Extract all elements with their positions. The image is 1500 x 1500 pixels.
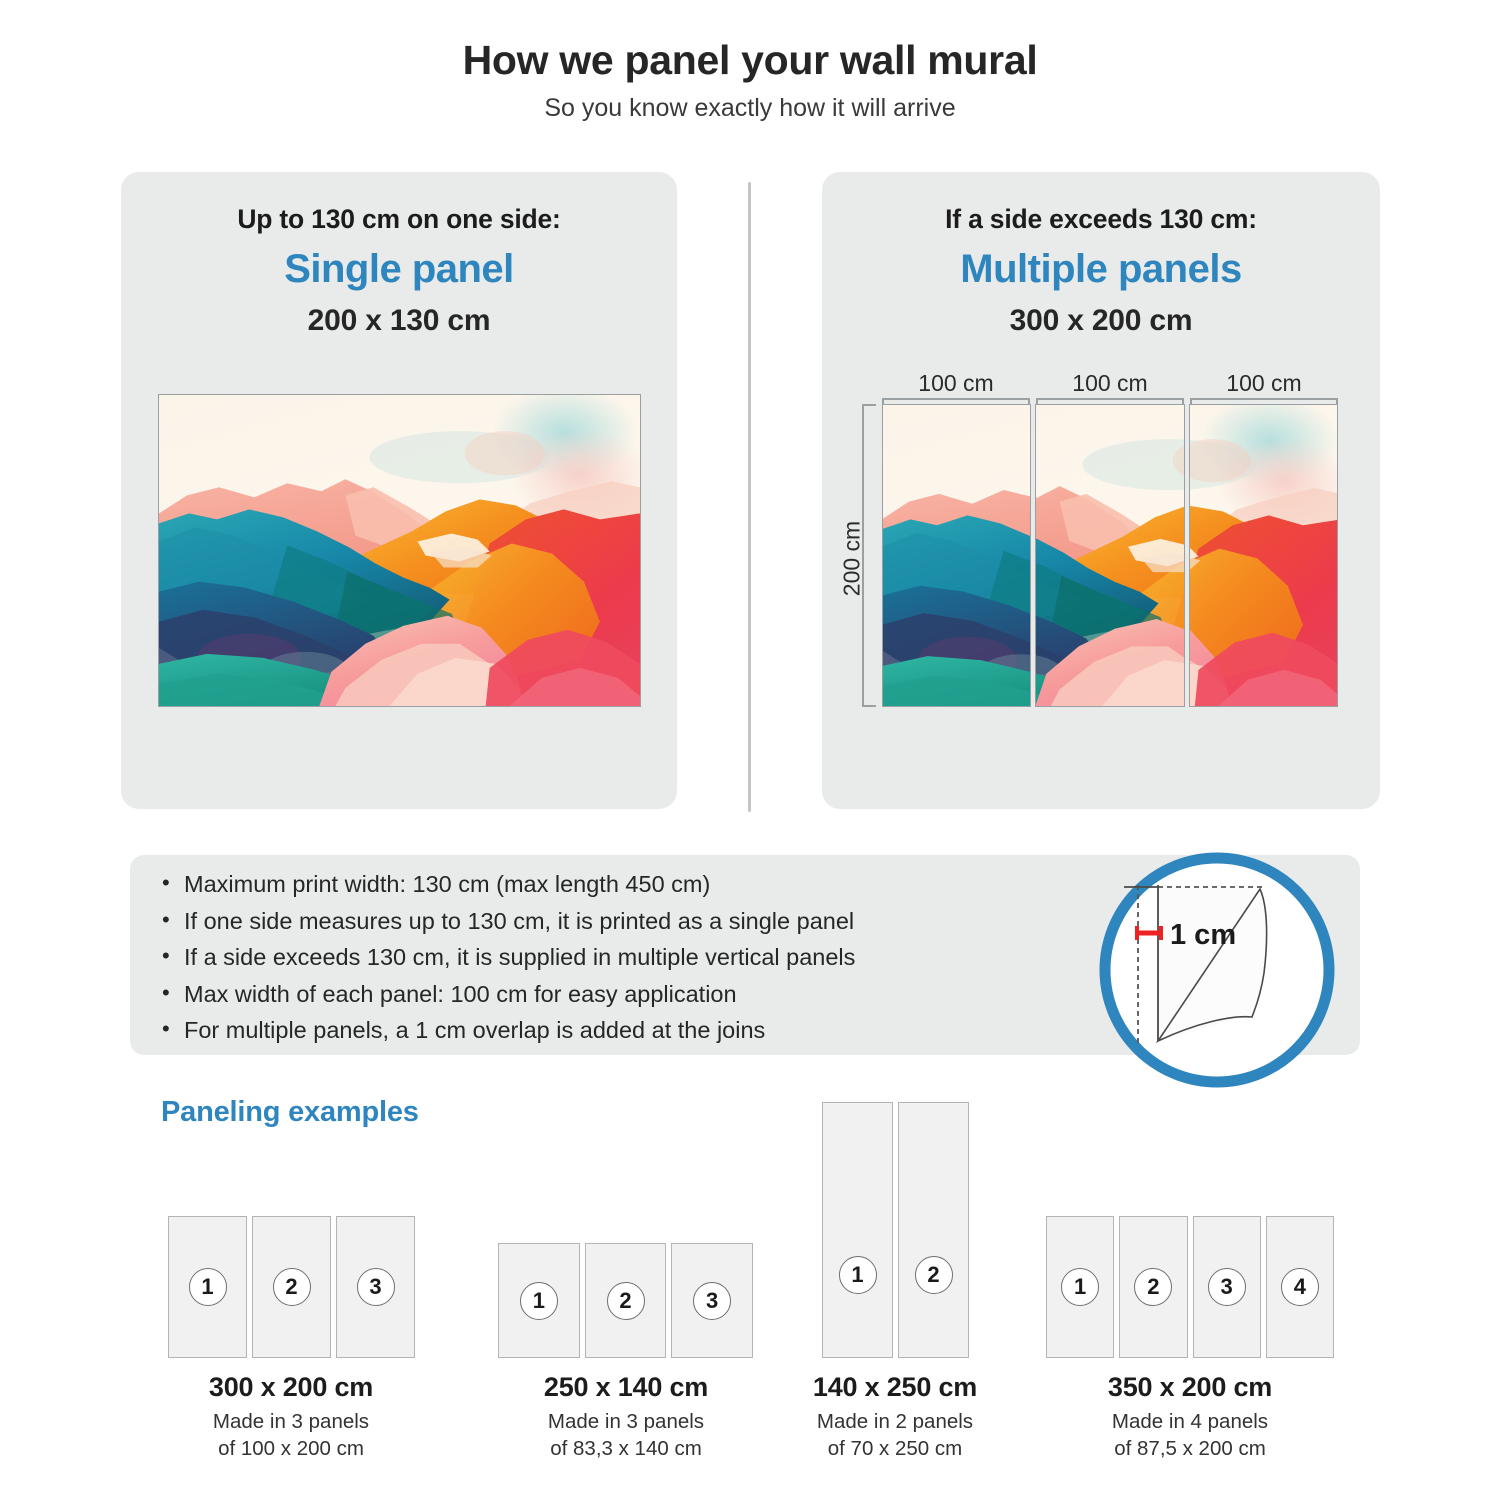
panel-number-badge: 4 [1281, 1268, 1319, 1306]
example-3-panel-1: 1 [822, 1102, 893, 1358]
example-3-diagram: 1 2 [822, 1102, 969, 1358]
panel-number-badge: 1 [839, 1256, 877, 1294]
example-4-panel-1: 1 [1046, 1216, 1114, 1358]
multiple-panels-kicker: If a side exceeds 130 cm: [822, 204, 1380, 235]
example-2-sub-line2: of 83,3 x 140 cm [550, 1437, 702, 1460]
panel-number-badge: 1 [189, 1268, 227, 1306]
example-4-panel-2: 2 [1119, 1216, 1187, 1358]
page-header: How we panel your wall mural So you know… [0, 38, 1500, 123]
list-item: Max width of each panel: 100 cm for easy… [158, 983, 855, 1007]
mural-panel-1 [882, 404, 1031, 707]
page-title: How we panel your wall mural [0, 38, 1500, 84]
example-4-panel-4: 4 [1266, 1216, 1334, 1358]
mural-panel-2 [1035, 404, 1184, 707]
example-1-subtitle: Made in 3 panels of 100 x 200 cm [141, 1408, 441, 1462]
list-item: Maximum print width: 130 cm (max length … [158, 873, 855, 897]
panel-number-badge: 3 [357, 1268, 395, 1306]
panel-number-badge: 2 [1134, 1268, 1172, 1306]
example-3-subtitle: Made in 2 panels of 70 x 250 cm [745, 1408, 1045, 1462]
specifications-list: Maximum print width: 130 cm (max length … [158, 873, 855, 1056]
panel-number-badge: 1 [1061, 1268, 1099, 1306]
example-3-sub-line1: Made in 2 panels [817, 1410, 973, 1433]
panel-number-badge: 2 [607, 1282, 645, 1320]
mural-artwork-single [158, 394, 641, 707]
single-panel-kicker: Up to 130 cm on one side: [121, 204, 677, 235]
example-4-sub-line1: Made in 4 panels [1112, 1410, 1268, 1433]
infographic-page: How we panel your wall mural So you know… [0, 0, 1500, 1500]
panel-number-badge: 2 [273, 1268, 311, 1306]
panel-number-badge: 3 [1208, 1268, 1246, 1306]
example-2-sub-line1: Made in 3 panels [548, 1410, 704, 1433]
list-item: For multiple panels, a 1 cm overlap is a… [158, 1019, 855, 1043]
panel-height-label: 200 cm [839, 499, 866, 619]
single-panel-heading: Single panel [121, 247, 677, 292]
example-2-subtitle: Made in 3 panels of 83,3 x 140 cm [476, 1408, 776, 1462]
watercolor-mountain-landscape-icon [1035, 404, 1184, 707]
watercolor-mountain-landscape-icon [882, 404, 1031, 707]
example-1-panel-3: 3 [336, 1216, 415, 1358]
paneling-examples-title: Paneling examples [161, 1096, 419, 1129]
example-4-subtitle: Made in 4 panels of 87,5 x 200 cm [1040, 1408, 1340, 1462]
panel-number-badge: 1 [520, 1282, 558, 1320]
single-panel-size: 200 x 130 cm [121, 304, 677, 338]
multiple-panels-heading: Multiple panels [822, 247, 1380, 292]
example-1-sub-line2: of 100 x 200 cm [218, 1437, 364, 1460]
watercolor-mountain-landscape-icon [159, 395, 640, 706]
panel-width-label-1: 100 cm [882, 370, 1030, 397]
multiple-panels-size: 300 x 200 cm [822, 304, 1380, 338]
mural-artwork-panels [882, 404, 1338, 707]
panel-number-badge: 2 [915, 1256, 953, 1294]
example-4-sub-line2: of 87,5 x 200 cm [1114, 1437, 1266, 1460]
example-4-panel-3: 3 [1193, 1216, 1261, 1358]
example-2-title: 250 x 140 cm [476, 1372, 776, 1403]
list-item: If one side measures up to 130 cm, it is… [158, 910, 855, 934]
example-3-title: 140 x 250 cm [745, 1372, 1045, 1403]
overlap-detail-diagram: 1 cm [1092, 845, 1342, 1095]
example-2-panel-2: 2 [585, 1243, 667, 1358]
example-2-panel-3: 3 [671, 1243, 753, 1358]
panel-width-label-3: 100 cm [1190, 370, 1338, 397]
watercolor-mountain-landscape-icon [1189, 404, 1338, 707]
mural-panel-3 [1189, 404, 1338, 707]
overlap-label: 1 cm [1170, 919, 1236, 951]
example-3-sub-line2: of 70 x 250 cm [828, 1437, 962, 1460]
example-4-diagram: 1 2 3 4 [1046, 1216, 1334, 1358]
example-2-diagram: 1 2 3 [498, 1243, 753, 1358]
example-1-panel-1: 1 [168, 1216, 247, 1358]
example-1-sub-line1: Made in 3 panels [213, 1410, 369, 1433]
list-item: If a side exceeds 130 cm, it is supplied… [158, 946, 855, 970]
example-2-panel-1: 1 [498, 1243, 580, 1358]
panel-width-label-2: 100 cm [1036, 370, 1184, 397]
example-1-diagram: 1 2 3 [168, 1216, 415, 1358]
example-1-panel-2: 2 [252, 1216, 331, 1358]
card-divider [748, 182, 751, 812]
panel-number-badge: 3 [693, 1282, 731, 1320]
page-subtitle: So you know exactly how it will arrive [0, 94, 1500, 123]
example-1-title: 300 x 200 cm [141, 1372, 441, 1403]
example-3-panel-2: 2 [898, 1102, 969, 1358]
example-4-title: 350 x 200 cm [1040, 1372, 1340, 1403]
